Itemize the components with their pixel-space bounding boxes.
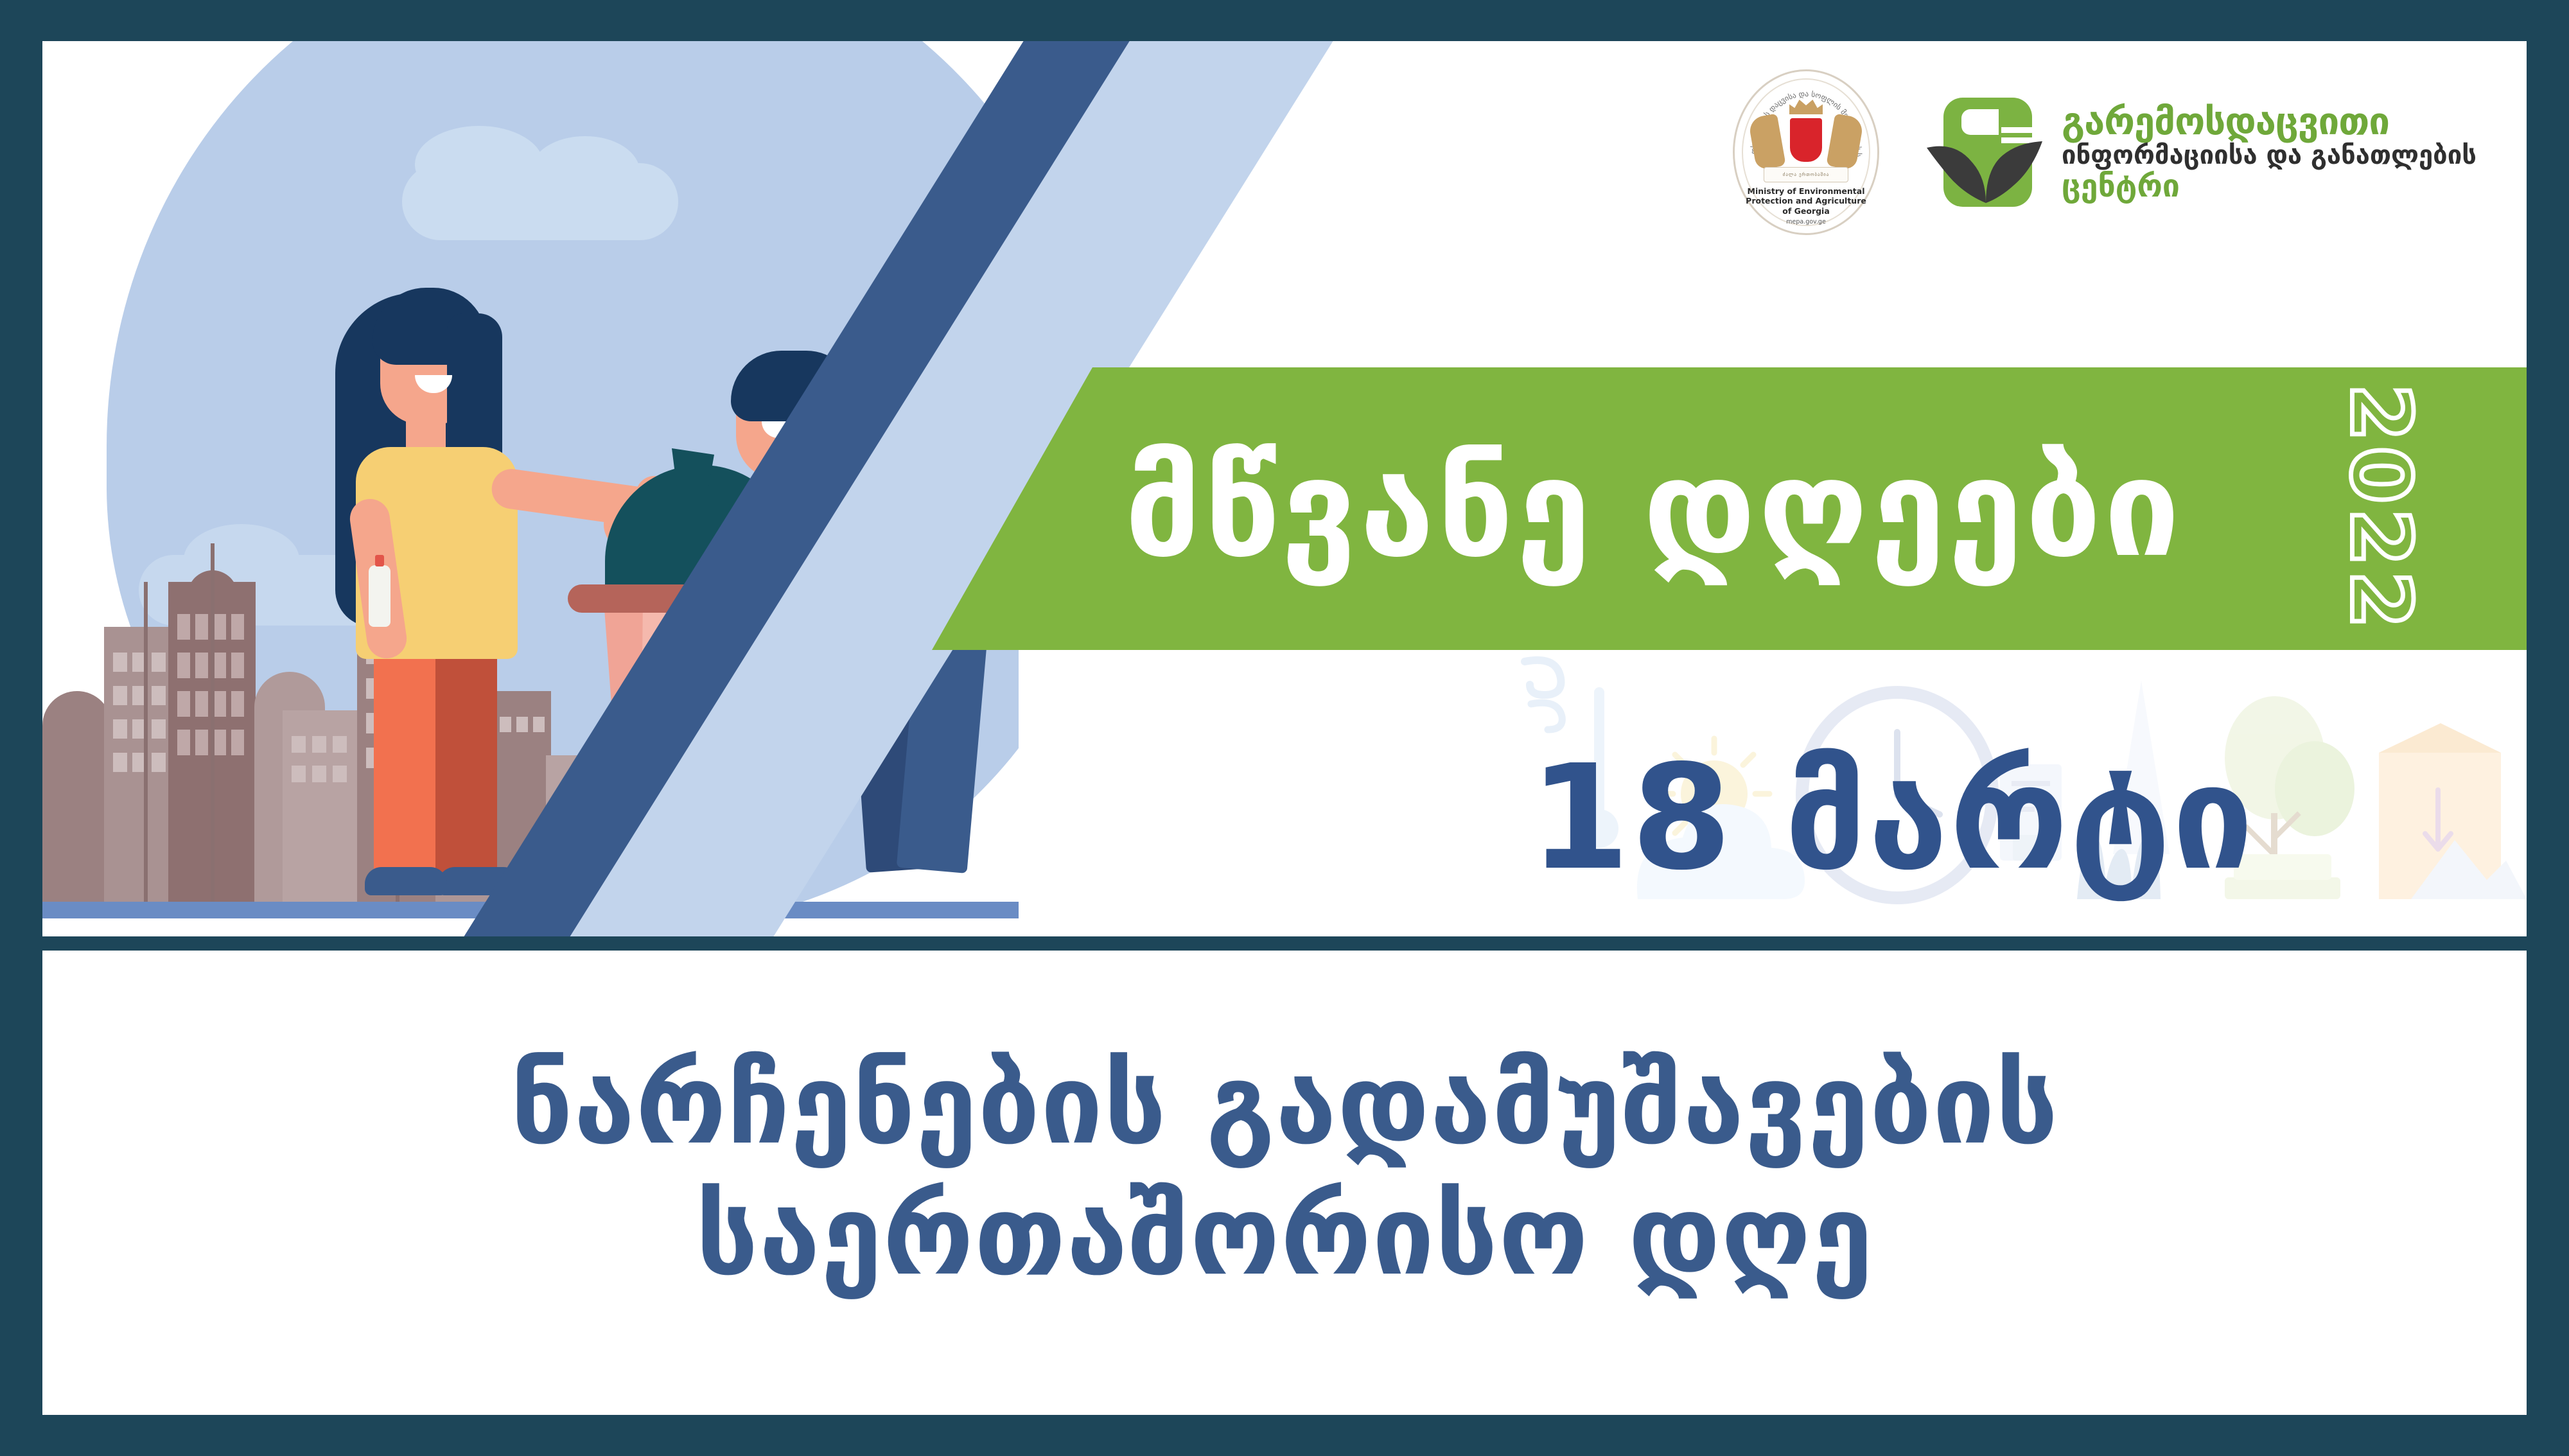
- cloud-icon: [402, 163, 678, 240]
- top-section: მწვანე დღეები 2022 18 მარტი საქართველოს …: [42, 41, 2527, 936]
- center-logo-mark: [1924, 94, 2045, 211]
- ministry-seal-logo: საქართველოს გარემოს დაცვისა და სოფლის მე…: [1733, 69, 1879, 235]
- seal-english-text: Ministry of Environmental Protection and…: [1733, 186, 1879, 216]
- seal-en-line1: Ministry of Environmental: [1733, 186, 1879, 196]
- center-logo: გარემოსდაცვითი ინფორმაციისა და განათლები…: [1924, 94, 2477, 211]
- seal-url: mepa.gov.ge: [1733, 218, 1879, 225]
- bottle-icon: [369, 565, 390, 627]
- bag-knot: [672, 448, 714, 488]
- seal-en-line3: of Georgia: [1733, 206, 1879, 216]
- center-logo-line3: ცენტრი: [2062, 171, 2477, 202]
- banner-year: 2022: [2332, 384, 2428, 633]
- green-banner: მწვანე დღეები 2022: [932, 367, 2527, 650]
- center-logo-line1: გარემოსდაცვითი: [2062, 103, 2477, 140]
- seal-en-line2: Protection and Agriculture: [1733, 196, 1879, 206]
- building: [42, 691, 112, 903]
- seal-motto: ძალა ერთობაშია: [1764, 168, 1848, 182]
- headline-line-2: საერთაშორისო დღე: [696, 1176, 1873, 1295]
- event-date: 18 მარტი: [1378, 709, 2406, 927]
- logo-row: საქართველოს გარემოს დაცვისა და სოფლის მე…: [1733, 69, 2477, 235]
- poster: მწვანე დღეები 2022 18 მარტი საქართველოს …: [0, 0, 2569, 1456]
- banner-title: მწვანე დღეები: [1125, 441, 2182, 576]
- shield-icon: [1790, 118, 1822, 162]
- building: [104, 627, 173, 903]
- shoe-left: [365, 867, 447, 895]
- seal-scroll: ძალა ერთობაშია: [1764, 167, 1848, 182]
- center-logo-line2: ინფორმაციისა და განათლების: [2062, 143, 2477, 168]
- bottom-section: ნარჩენების გადამუშავების საერთაშორისო დღ…: [42, 951, 2527, 1415]
- headline-line-1: ნარჩენების გადამუშავების: [510, 1045, 2058, 1164]
- center-logo-text: გარემოსდაცვითი ინფორმაციისა და განათლები…: [2062, 103, 2477, 202]
- poster-canvas: მწვანე დღეები 2022 18 მარტი საქართველოს …: [42, 41, 2527, 1415]
- section-divider: [42, 936, 2527, 951]
